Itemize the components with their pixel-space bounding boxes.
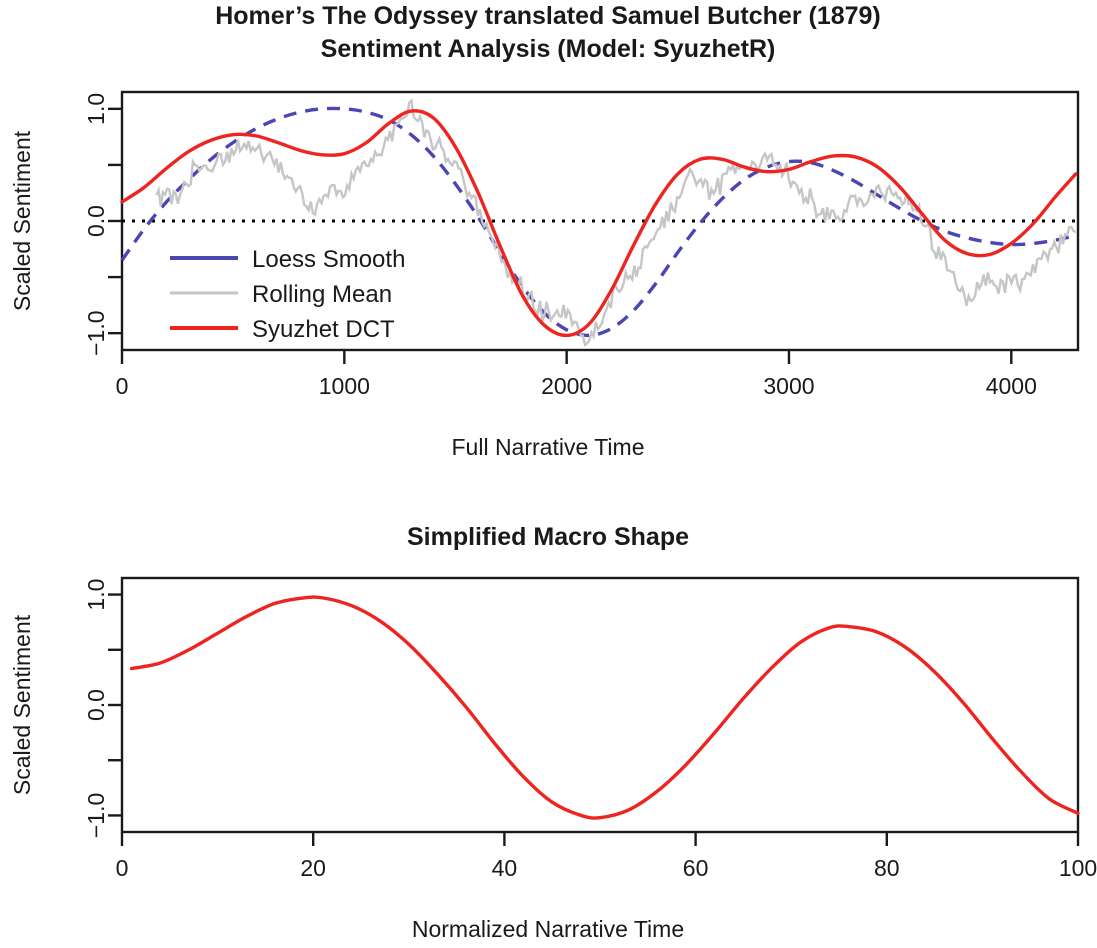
bottom-x-tick-label: 100 — [1059, 855, 1097, 881]
bottom-panel: Simplified Macro Shape −1.00.01.0 020406… — [9, 523, 1097, 942]
bottom-x-axis-ticks — [122, 832, 1078, 846]
top-series-group — [122, 101, 1076, 345]
top-panel-title-line2: Sentiment Analysis (Model: SyuzhetR) — [321, 35, 776, 63]
legend-label-syuzhet-dct: Syuzhet DCT — [252, 316, 395, 343]
series-line-macro-shape — [132, 597, 1078, 818]
bottom-y-axis-ticks — [108, 595, 122, 816]
bottom-y-tick-label: 0.0 — [83, 689, 109, 721]
top-y-tick-label: −1.0 — [83, 310, 109, 355]
legend-label-rolling-mean: Rolling Mean — [252, 281, 392, 308]
bottom-y-axis-tick-labels: −1.00.01.0 — [83, 579, 109, 839]
bottom-panel-title: Simplified Macro Shape — [407, 523, 689, 551]
bottom-x-tick-label: 60 — [683, 855, 709, 881]
top-x-tick-label: 2000 — [541, 373, 592, 399]
bottom-y-tick-label: 1.0 — [83, 579, 109, 611]
top-x-axis-ticks — [122, 350, 1011, 364]
top-x-tick-label: 4000 — [986, 373, 1037, 399]
bottom-x-tick-label: 80 — [874, 855, 900, 881]
top-x-tick-label: 3000 — [763, 373, 814, 399]
top-panel: Homer’s The Odyssey translated Samuel Bu… — [9, 2, 1078, 460]
top-y-tick-label: 0.0 — [83, 205, 109, 237]
bottom-x-axis-tick-labels: 020406080100 — [116, 855, 1097, 881]
bottom-y-tick-label: −1.0 — [83, 793, 109, 838]
top-panel-title-line1: Homer’s The Odyssey translated Samuel Bu… — [215, 2, 881, 30]
bottom-x-tick-label: 0 — [116, 855, 129, 881]
top-x-tick-label: 1000 — [319, 373, 370, 399]
top-y-axis-tick-labels: −1.00.01.0 — [83, 93, 109, 356]
bottom-x-axis-title: Normalized Narrative Time — [412, 916, 684, 942]
top-x-axis-title: Full Narrative Time — [452, 434, 645, 460]
bottom-x-tick-label: 20 — [300, 855, 326, 881]
top-y-axis-title: Scaled Sentiment — [9, 130, 35, 311]
sentiment-analysis-figure: Homer’s The Odyssey translated Samuel Bu… — [0, 0, 1097, 948]
bottom-series-group — [132, 597, 1078, 818]
top-x-axis-tick-labels: 01000200030004000 — [116, 373, 1037, 399]
legend-label-loess-smooth: Loess Smooth — [252, 246, 405, 273]
bottom-x-tick-label: 40 — [492, 855, 518, 881]
bottom-plot-box — [122, 578, 1078, 832]
top-y-axis-ticks — [108, 109, 122, 333]
top-x-tick-label: 0 — [116, 373, 129, 399]
figure-canvas: Homer’s The Odyssey translated Samuel Bu… — [0, 0, 1097, 948]
top-y-tick-label: 1.0 — [83, 93, 109, 125]
top-legend: Loess SmoothRolling MeanSyuzhet DCT — [170, 246, 405, 343]
series-line-rolling-mean — [157, 101, 1076, 345]
bottom-y-axis-title: Scaled Sentiment — [9, 614, 35, 795]
